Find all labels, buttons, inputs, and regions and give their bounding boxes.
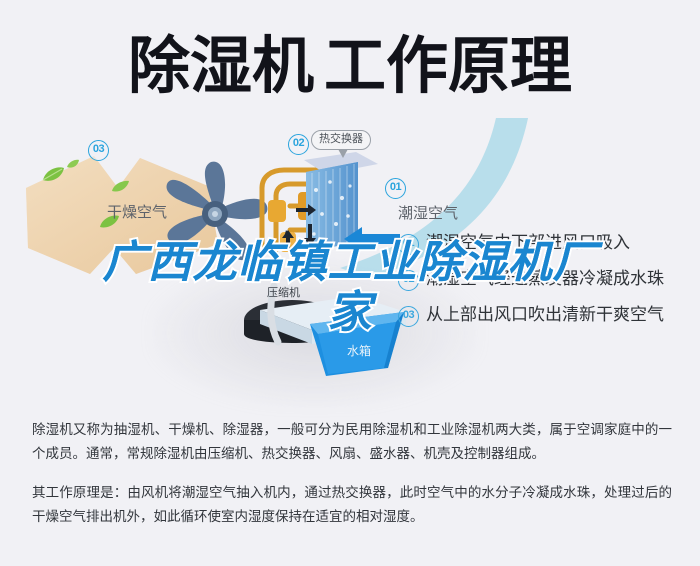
humid-air-label: 潮湿空气: [398, 202, 458, 223]
leaf-icon: [40, 166, 66, 189]
page-title-part1: 除湿机: [128, 32, 314, 101]
dry-air-label: 干燥空气: [107, 201, 167, 222]
leaf-icon: [66, 156, 80, 174]
body-paragraph-2: 其工作原理是：由风机将潮湿空气抽入机内，通过热交换器，此时空气中的水分子冷凝成水…: [32, 481, 672, 529]
watermark-line2: 家: [0, 288, 700, 338]
leaf-icon: [110, 180, 130, 199]
watermark-line1: 广西龙临镇工业除湿机厂: [0, 238, 700, 288]
diagram-badge-03: 03: [88, 140, 109, 161]
watermark-text: 广西龙临镇工业除湿机厂 家: [0, 238, 700, 338]
page-title-part2: 工作原理: [324, 32, 572, 101]
diagram-badge-01: 01: [385, 178, 406, 199]
poster-canvas: 除湿机工作原理: [0, 0, 700, 566]
heat-exchanger-callout: 热交换器: [311, 130, 371, 150]
page-title: 除湿机工作原理: [0, 32, 700, 102]
water-tank-label: 水箱: [347, 342, 371, 359]
diagram-badge-02: 02: [288, 134, 309, 155]
body-paragraph-1: 除湿机又称为抽湿机、干燥机、除湿器，一般可分为民用除湿机和工业除湿机两大类，属于…: [32, 418, 672, 466]
